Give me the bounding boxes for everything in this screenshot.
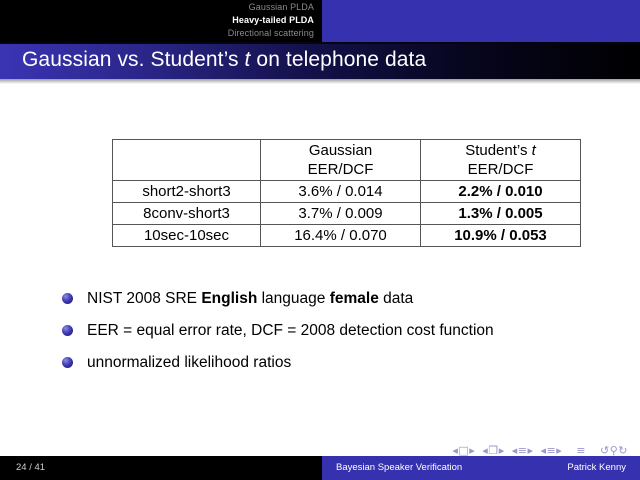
table-row: 8conv-short3 3.7% / 0.009 1.3% / 0.005 [113, 203, 581, 225]
section-navigation[interactable]: Gaussian PLDA Heavy-tailed PLDA Directio… [0, 1, 322, 40]
list-item-label: NIST 2008 SRE English language female da… [87, 290, 413, 307]
table-row: 10sec-10sec 16.4% / 0.070 10.9% / 0.053 [113, 225, 581, 247]
table-cell-gaussian-8conv-short3: 3.7% / 0.009 [261, 203, 421, 225]
table-row-label-8conv-short3: 8conv-short3 [113, 203, 261, 225]
table-col-header-gaussian: Gaussian EER/DCF [261, 140, 421, 181]
slide-content-area: Gaussian EER/DCF Student’s t EER/DCF sho… [0, 84, 640, 452]
nav-item-heavy-tailed-plda[interactable]: Heavy-tailed PLDA [0, 14, 322, 27]
nav-item-gaussian-plda[interactable]: Gaussian PLDA [0, 1, 322, 14]
student-label-italic-t: t [532, 142, 536, 159]
table-row-label-short2-short3: short2-short3 [113, 181, 261, 203]
table-col-header-student-t: Student’s t EER/DCF [421, 140, 581, 181]
list-item: NIST 2008 SRE English language female da… [62, 288, 622, 309]
bullet-1-pre: NIST 2008 SRE [87, 290, 201, 307]
bullet-dot-icon [62, 357, 73, 368]
bullet-list: NIST 2008 SRE English language female da… [62, 288, 622, 384]
footer-left-panel [0, 456, 322, 480]
bullet-1-bold-female: female [330, 290, 379, 307]
bullet-dot-icon [62, 293, 73, 304]
table-cell-student-10sec-10sec: 10.9% / 0.053 [421, 225, 581, 247]
slide-footer: 24 / 41 Patrick Kenny Bayesian Speaker V… [0, 456, 640, 480]
nav-item-directional-scattering[interactable]: Directional scattering [0, 27, 322, 40]
table-cell-student-short2-short3: 2.2% / 0.010 [421, 181, 581, 203]
list-item: unnormalized likelihood ratios [62, 352, 622, 373]
slide-header-band: Gaussian PLDA Heavy-tailed PLDA Directio… [0, 0, 640, 42]
footer-author: Patrick Kenny [567, 462, 626, 473]
list-item: EER = equal error rate, DCF = 2008 detec… [62, 320, 622, 341]
table-col-header-gaussian-line1: Gaussian [269, 141, 412, 160]
page-title: Gaussian vs. Student’s t on telephone da… [22, 48, 426, 72]
bullet-1-post: data [379, 290, 413, 307]
table-col-header-student-t-line1: Student’s t [429, 141, 572, 160]
table-row: short2-short3 3.6% / 0.014 2.2% / 0.010 [113, 181, 581, 203]
table-row-label-10sec-10sec: 10sec-10sec [113, 225, 261, 247]
table-header-row: Gaussian EER/DCF Student’s t EER/DCF [113, 140, 581, 181]
footer-subject: Bayesian Speaker Verification [336, 462, 462, 473]
bullet-1-bold-english: English [201, 290, 257, 307]
footer-page-number: 24 / 41 [16, 462, 45, 473]
table-col-header-gaussian-line2: EER/DCF [269, 160, 412, 179]
bullet-dot-icon [62, 325, 73, 336]
table-cell-gaussian-10sec-10sec: 16.4% / 0.070 [261, 225, 421, 247]
results-table: Gaussian EER/DCF Student’s t EER/DCF sho… [112, 139, 581, 247]
student-label-text: Student’s [465, 142, 531, 159]
table-cell-gaussian-short2-short3: 3.6% / 0.014 [261, 181, 421, 203]
table-corner-cell [113, 140, 261, 181]
bullet-1-mid: language [257, 290, 329, 307]
table-col-header-student-t-line2: EER/DCF [429, 160, 572, 179]
page-title-part1: Gaussian vs. Student’s [22, 48, 245, 71]
list-item-label: EER = equal error rate, DCF = 2008 detec… [87, 322, 494, 339]
frame-title-bar: Gaussian vs. Student’s t on telephone da… [0, 44, 640, 79]
table-cell-student-8conv-short3: 1.3% / 0.005 [421, 203, 581, 225]
page-title-part2: on telephone data [250, 48, 426, 71]
list-item-label: unnormalized likelihood ratios [87, 354, 291, 371]
